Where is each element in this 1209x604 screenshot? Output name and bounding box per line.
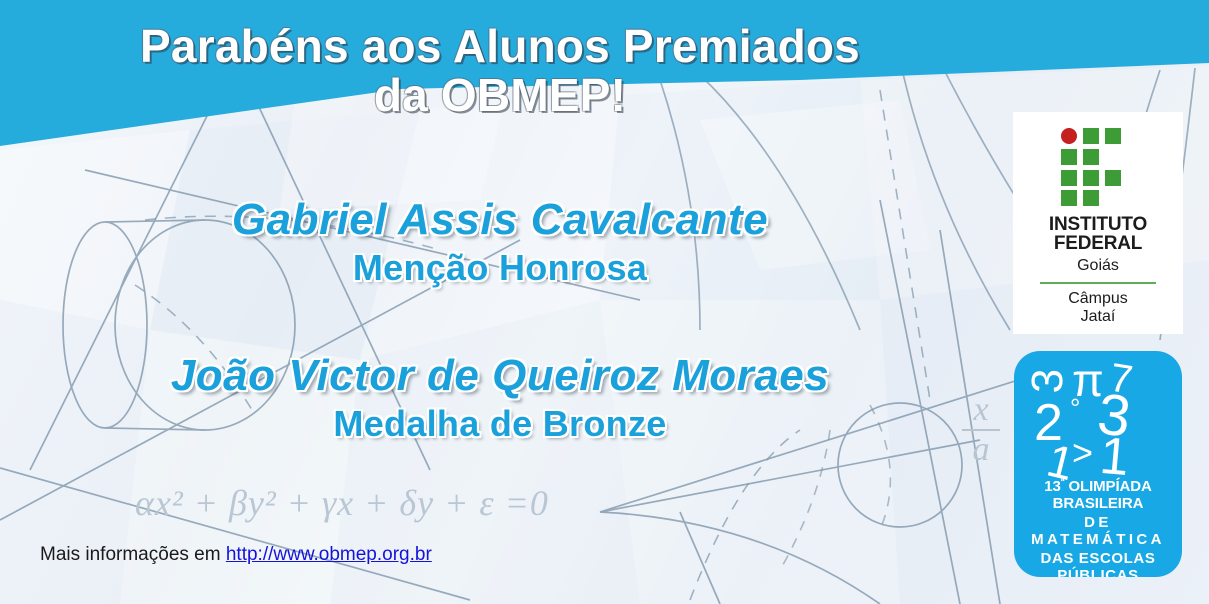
if-square [1061, 170, 1077, 186]
page-title: Parabéns aos Alunos Premiados da OBMEP! [0, 22, 1000, 120]
obmep-edition-rest: OLIMPÍADA BRASILEIRA [1053, 478, 1152, 512]
obmep-edition-number: 13 [1044, 478, 1061, 495]
if-square [1061, 149, 1077, 165]
obmep-congratulations-banner: Parabéns aos Alunos Premiados da OBMEP! … [0, 0, 1209, 604]
ifg-campus-name: Câmpus Jataí [1068, 290, 1128, 326]
ifg-campus-city: Jataí [1068, 308, 1128, 326]
if-square [1083, 170, 1099, 186]
ifg-state-name: Goiás [1077, 257, 1119, 275]
ifg-line-federal: FEDERAL [1049, 235, 1147, 254]
equation-watermark: αx² + βy² + γx + δy + ε =0 [135, 482, 549, 524]
ifg-line-instituto: INSTITUTO [1049, 214, 1147, 235]
obmep-caption: 13ª OLIMPÍADA BRASILEIRA DE MATEMÁTICA D… [1014, 477, 1182, 577]
award-prize: Menção Honrosa [0, 248, 1000, 288]
obmep-symbol-degree: ° [1070, 395, 1080, 421]
award-entry: Gabriel Assis Cavalcante Menção Honrosa [0, 196, 1000, 289]
award-entry: João Victor de Queiroz Moraes Medalha de… [0, 352, 1000, 445]
obmep-2017-logo: 3 π 7 2 ° 3 1 > 1 13ª OLIMPÍADA BRASILEI… [1014, 351, 1182, 577]
ifg-institute-name: INSTITUTO FEDERAL [1049, 216, 1147, 253]
if-red-dot [1061, 128, 1077, 144]
if-square [1061, 190, 1077, 206]
obmep-math-symbols: 3 π 7 2 ° 3 1 > 1 [1014, 351, 1182, 475]
obmep-symbol-3-rotated: 3 [1026, 368, 1071, 394]
if-square [1083, 190, 1099, 206]
obmep-scope-line: DAS ESCOLAS PÚBLICAS [1014, 550, 1182, 577]
ifg-divider [1040, 282, 1156, 284]
ifg-campus-word: Câmpus [1068, 290, 1128, 307]
headline-line-1: Parabéns aos Alunos Premiados [140, 20, 860, 72]
student-name: João Victor de Queiroz Moraes [0, 352, 1000, 400]
obmep-subject-line: DE MATEMÁTICA [1014, 514, 1182, 548]
obmep-symbol-greater: > [1072, 435, 1093, 471]
obmep-website-link[interactable]: http://www.obmep.org.br [226, 544, 432, 565]
if-square [1105, 128, 1121, 144]
obmep-symbol-1-right: 1 [1098, 430, 1131, 484]
if-square [1105, 170, 1121, 186]
obmep-edition-line: 13ª OLIMPÍADA BRASILEIRA [1014, 477, 1182, 512]
instituto-federal-goias-logo: INSTITUTO FEDERAL Goiás Câmpus Jataí [1013, 112, 1183, 334]
headline-line-2: da OBMEP! [0, 71, 1000, 120]
award-prize: Medalha de Bronze [0, 404, 1000, 444]
footer-note: Mais informações em http://www.obmep.org… [40, 544, 432, 566]
if-square [1083, 128, 1099, 144]
footer-prefix: Mais informações em [40, 544, 226, 565]
if-square [1083, 149, 1099, 165]
student-name: Gabriel Assis Cavalcante [0, 196, 1000, 244]
if-mark-icon [1061, 128, 1135, 206]
